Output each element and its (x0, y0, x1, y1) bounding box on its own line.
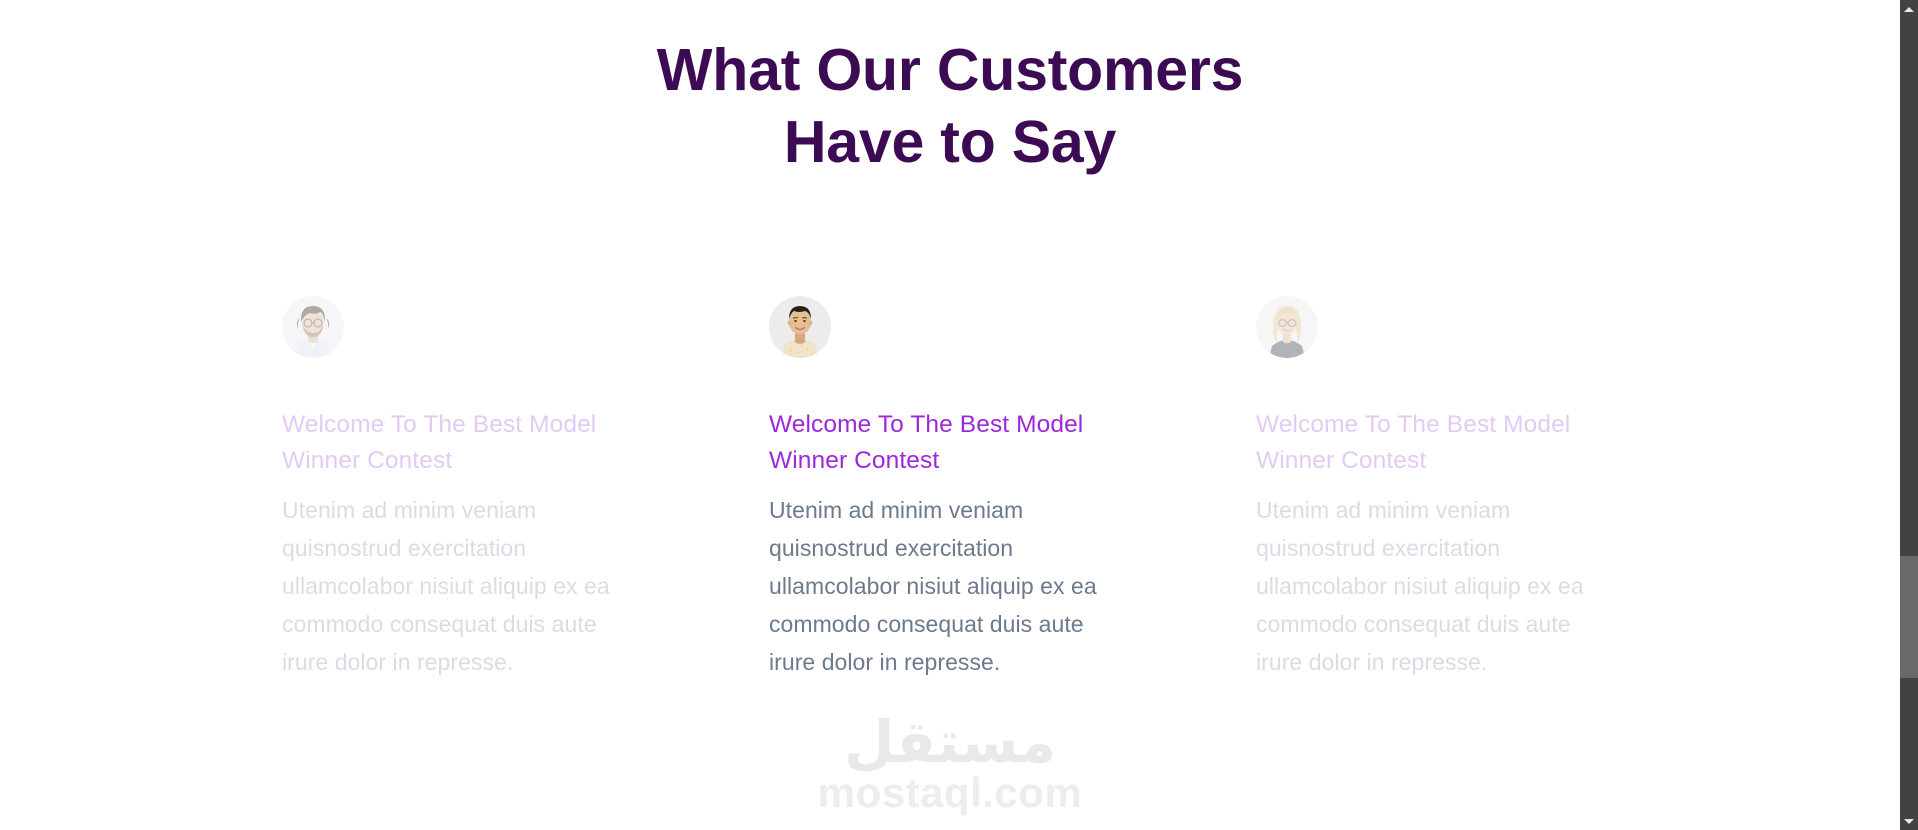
avatar-blonde-woman-glasses (1256, 296, 1318, 358)
watermark-arabic-text: مستقل (800, 712, 1100, 774)
site-watermark: مستقل mostaql.com (800, 712, 1100, 816)
chevron-down-icon[interactable] (1900, 812, 1918, 830)
testimonial-title: Welcome To The Best Model Winner Contest (282, 407, 648, 479)
avatar-short-hair-man (769, 296, 831, 358)
vertical-scrollbar[interactable] (1900, 0, 1918, 830)
testimonial-body: Utenim ad minim veniam quisnostrud exerc… (1256, 491, 1622, 681)
testimonials-list: Welcome To The Best Model Winner Contest… (282, 296, 1622, 681)
testimonial-card-1[interactable]: Welcome To The Best Model Winner Contest… (282, 296, 648, 681)
page-title: What Our Customers Have to Say (0, 0, 1900, 178)
testimonial-card-3[interactable]: Welcome To The Best Model Winner Contest… (1256, 296, 1622, 681)
chevron-up-icon[interactable] (1900, 0, 1918, 18)
testimonial-card-2[interactable]: Welcome To The Best Model Winner Contest… (769, 296, 1135, 681)
scrollbar-thumb[interactable] (1900, 556, 1918, 678)
testimonial-body: Utenim ad minim veniam quisnostrud exerc… (282, 491, 648, 681)
testimonial-title: Welcome To The Best Model Winner Contest (1256, 407, 1622, 479)
avatar-bearded-man-glasses (282, 296, 344, 358)
testimonial-title: Welcome To The Best Model Winner Contest (769, 407, 1135, 479)
page-viewport: What Our Customers Have to Say (0, 0, 1900, 830)
watermark-domain-text: mostaql.com (800, 770, 1100, 816)
testimonial-body: Utenim ad minim veniam quisnostrud exerc… (769, 491, 1135, 681)
